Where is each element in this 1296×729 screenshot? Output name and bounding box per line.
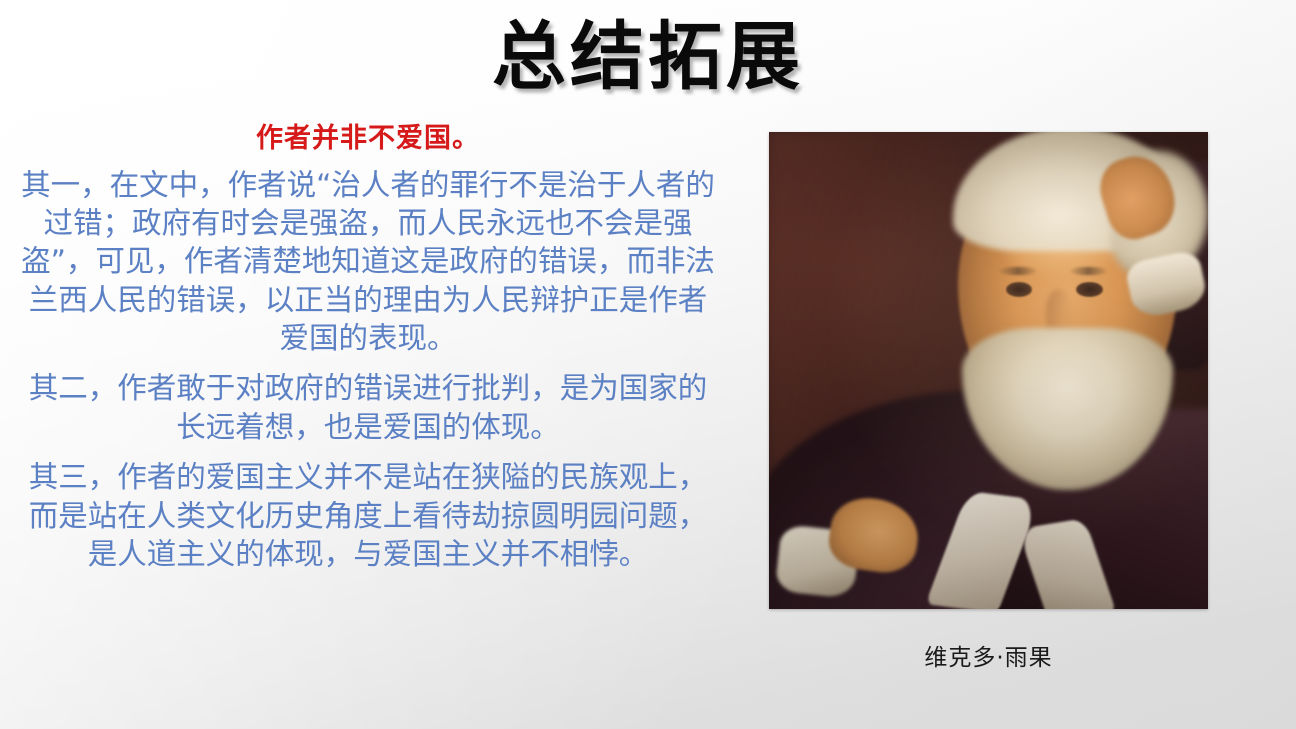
portrait-caption: 维克多·雨果 [769,638,1208,672]
portrait-image-frame [769,132,1208,609]
presentation-slide: 总结拓展 作者并非不爱国。 其一，在文中，作者说“治人者的罪行不是治于人者的过错… [0,0,1296,729]
body-paragraph-1: 其一，在文中，作者说“治人者的罪行不是治于人者的过错；政府有时会是强盗，而人民永… [18,166,718,358]
portrait-varnish-glaze [769,132,1208,609]
victor-hugo-portrait-image [769,132,1208,609]
body-paragraph-2: 其二，作者敢于对政府的错误进行批判，是为国家的长远着想，也是爱国的体现。 [18,369,718,446]
body-paragraph-3: 其三，作者的爱国主义并不是站在狭隘的民族观上，而是站在人类文化历史角度上看待劫掠… [18,458,718,573]
page-title: 总结拓展 [0,18,1296,98]
text-content-column: 作者并非不爱国。 其一，在文中，作者说“治人者的罪行不是治于人者的过错；政府有时… [18,122,718,573]
subtitle-statement: 作者并非不爱国。 [18,122,718,156]
